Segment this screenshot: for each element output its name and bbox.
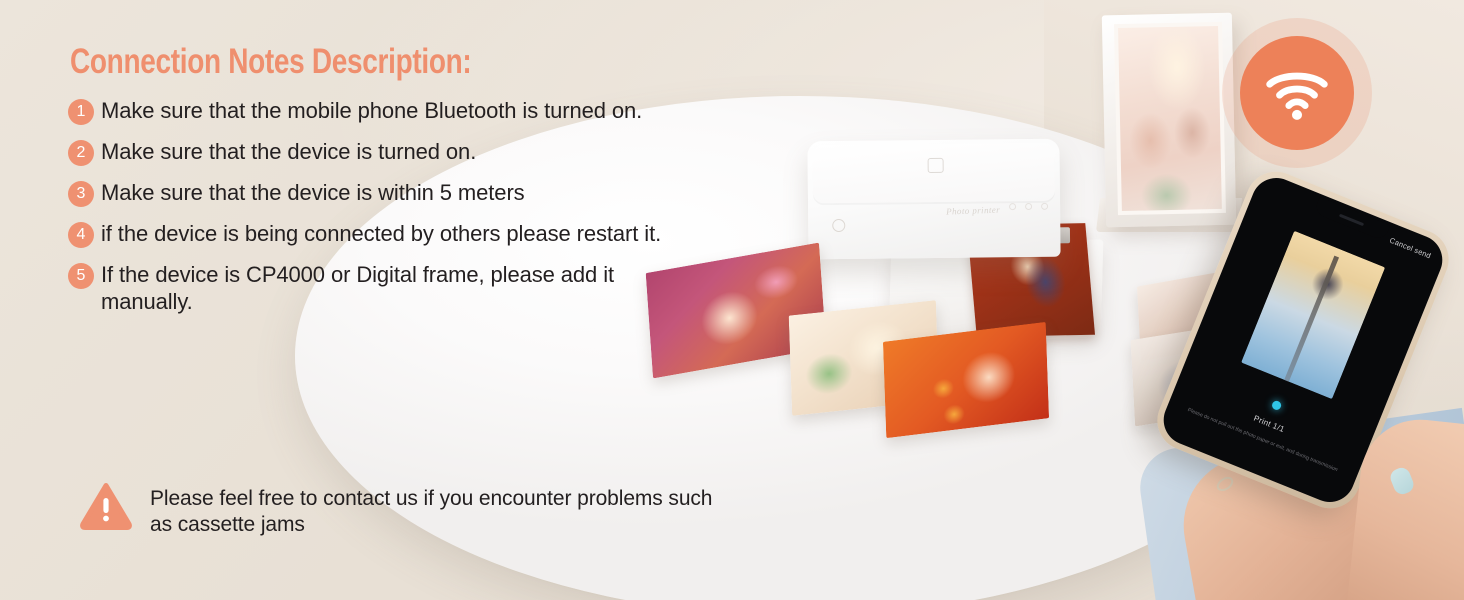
list-item: 4 if the device is being connected by ot… [68, 221, 708, 248]
list-item: 2 Make sure that the device is turned on… [68, 139, 708, 166]
printer-status-leds [1009, 203, 1048, 210]
step-number-badge: 2 [68, 140, 94, 166]
power-button-icon [832, 219, 845, 232]
list-item-text: if the device is being connected by othe… [101, 221, 661, 248]
picture-frame-mat [1114, 22, 1226, 215]
picture-frame [1102, 13, 1236, 228]
warning-notice: Please feel free to contact us if you en… [80, 482, 720, 539]
step-number-badge: 4 [68, 222, 94, 248]
progress-indicator [1271, 400, 1283, 412]
list-item: 1 Make sure that the mobile phone Blueto… [68, 98, 708, 125]
print-status-label: Print 1/1 [1174, 382, 1365, 466]
warning-triangle-icon [80, 482, 132, 530]
list-item-text: If the device is CP4000 or Digital frame… [101, 262, 708, 316]
nfc-icon [928, 158, 944, 173]
preview-subject [1284, 256, 1339, 382]
page-title: Connection Notes Description: [70, 44, 471, 79]
notes-list: 1 Make sure that the mobile phone Blueto… [68, 98, 708, 330]
warning-text: Please feel free to contact us if you en… [150, 486, 720, 539]
photo-preview [1241, 231, 1385, 399]
cancel-send-button[interactable]: Cancel send [1388, 236, 1432, 261]
instructions-panel: Connection Notes Description: 1 Make sur… [0, 0, 720, 600]
table-photo [883, 322, 1049, 438]
step-number-badge: 5 [68, 263, 94, 289]
list-item-text: Make sure that the device is turned on. [101, 139, 476, 166]
list-item: 3 Make sure that the device is within 5 … [68, 180, 708, 207]
phone-earpiece [1339, 214, 1364, 227]
list-item: 5 If the device is CP4000 or Digital fra… [68, 262, 708, 316]
wifi-icon [1240, 36, 1354, 150]
photo-printer: Photo printer [807, 139, 1060, 260]
step-number-badge: 1 [68, 99, 94, 125]
list-item-text: Make sure that the device is within 5 me… [101, 180, 525, 207]
family-photo-image [1118, 26, 1222, 211]
list-item-text: Make sure that the mobile phone Bluetoot… [101, 98, 642, 125]
step-number-badge: 3 [68, 181, 94, 207]
printer-brand-label: Photo printer [946, 205, 1000, 217]
